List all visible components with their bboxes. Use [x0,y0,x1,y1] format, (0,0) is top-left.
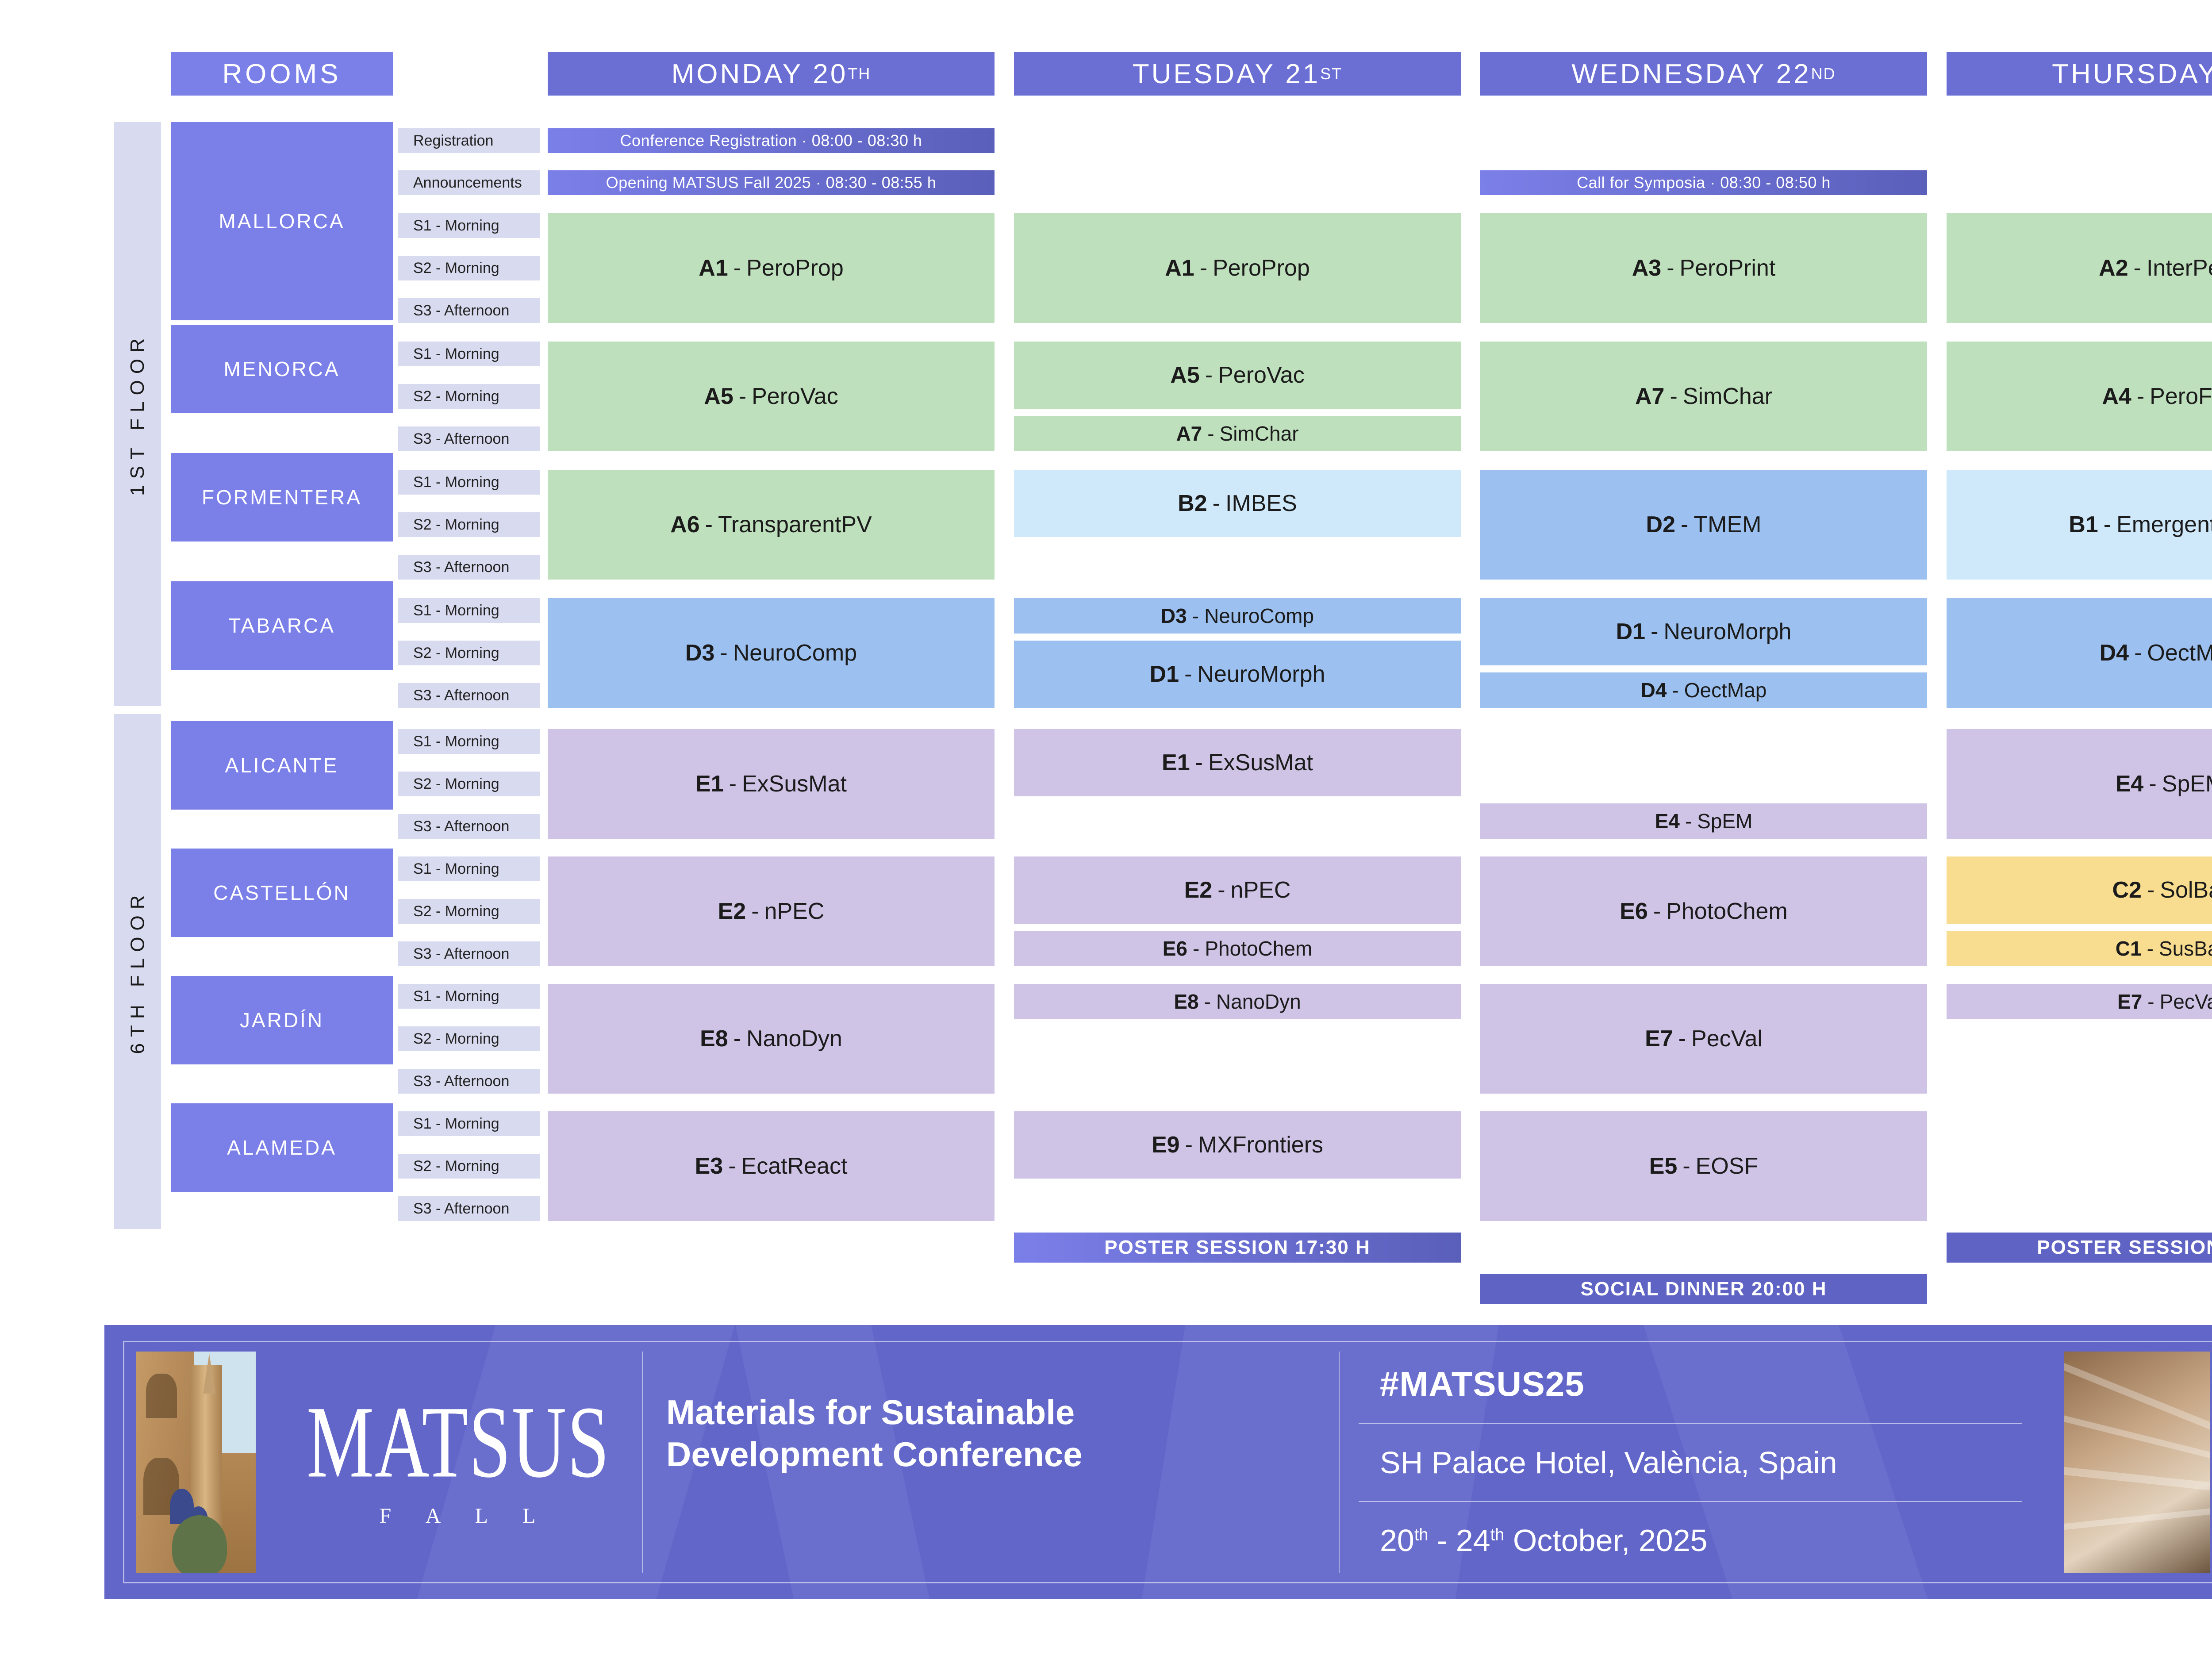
session-code: E6 [1163,937,1187,960]
room-castellon[interactable]: CASTELLÓN [171,849,393,937]
session-name: NeuroMorph [1663,618,1791,645]
session-code: A1 [1165,255,1194,281]
banner-dates-row: 20th - 24th October, 2025 [1359,1501,2022,1579]
session-name: SpEM [1697,809,1752,833]
room-tabarca[interactable]: TABARCA [171,581,393,670]
slot-castellon-s1: S1 - Morning [398,856,540,881]
session-code: E4 [1655,809,1680,833]
session-code: A5 [1170,362,1199,388]
banner-divider-1 [642,1352,643,1573]
floor-label-6th-text: 6TH FLOOR [127,889,149,1054]
banner-info-column: #MATSUS25 SH Palace Hotel, València, Spa… [1359,1345,2022,1579]
slot-alameda-s2: S2 - Morning [398,1154,540,1179]
session-d3-neurocomp-monday[interactable]: D3-NeuroComp [548,598,995,708]
banner-divider-2 [1339,1352,1340,1573]
room-alicante[interactable]: ALICANTE [171,721,393,810]
matsus-fall-label: F A L L [366,1504,551,1528]
matsus-wordmark: MATSUS [307,1390,610,1494]
session-code: D1 [1150,661,1179,687]
slot-jardin-s3: S3 - Afternoon [398,1069,540,1094]
day-header-tuesday-num: 21 [1285,58,1320,90]
session-code: E8 [700,1025,728,1052]
valencia-cathedral-photo [136,1352,256,1573]
day-header-tuesday-label: TUESDAY [1133,58,1275,90]
session-name: EmergentNano [2116,511,2212,538]
session-code: A7 [1635,383,1664,410]
session-name: PeroProp [746,255,844,281]
slot-alicante-s1: S1 - Morning [398,729,540,754]
session-name: NanoDyn [746,1025,842,1052]
session-code: D3 [1161,604,1187,628]
slot-tabarca-s3: S3 - Afternoon [398,683,540,708]
session-e7-pecval-thursday[interactable]: E7-PecVal [1947,984,2212,1019]
session-code: C2 [2112,877,2141,903]
session-name: PeroProp [1213,255,1310,281]
session-d4-oectmap-wednesday[interactable]: D4-OectMap [1480,672,1927,708]
session-d4-oectmap-thursday[interactable]: D4-OectMap [1947,598,2212,708]
session-code: E2 [1184,877,1213,903]
session-a4-perofun-thursday[interactable]: A4-PeroFun [1947,342,2212,451]
banner-date-start-ord: th [1414,1526,1429,1544]
session-e5-eosf-wednesday[interactable]: E5-EOSF [1480,1111,1927,1221]
session-a3-peroprint-wednesday[interactable]: A3-PeroPrint [1480,213,1927,323]
session-c1-susbat-thursday[interactable]: C1-SusBat [1947,931,2212,966]
banner-date-end-ord: th [1490,1526,1505,1544]
session-code: E7 [2117,990,2142,1014]
conference-banner: MATSUS F A L L Materials for Sustainable… [104,1325,2212,1599]
session-e4-spem-wednesday[interactable]: E4-SpEM [1480,803,1927,839]
architecture-photo [2064,1352,2210,1573]
session-a2-interpero-thursday[interactable]: A2-InterPero [1947,213,2212,323]
session-e8-nanodyn-monday[interactable]: E8-NanoDyn [548,984,995,1094]
announcement-wednesday-symposia[interactable]: Call for Symposia · 08:30 - 08:50 h [1480,170,1927,195]
session-code: A5 [704,383,733,410]
slot-alameda-s3: S3 - Afternoon [398,1196,540,1221]
slot-jardin-s2: S2 - Morning [398,1026,540,1051]
session-code: B1 [2069,511,2098,538]
room-menorca[interactable]: MENORCA [171,325,393,413]
day-header-monday: MONDAY 20TH [548,52,995,96]
slot-tabarca-s1: S1 - Morning [398,598,540,623]
session-name: ExSusMat [742,771,847,797]
session-name: PecVal [1691,1025,1763,1052]
session-name: SimChar [1683,383,1772,410]
day-header-tuesday-ord: ST [1320,65,1342,83]
banner-dates: 20th - 24th October, 2025 [1380,1523,1708,1558]
session-name: PhotoChem [1666,898,1788,925]
session-a1-peroprop-tuesday[interactable]: A1-PeroProp [1014,213,1461,323]
day-header-tuesday: TUESDAY 21ST [1014,52,1461,96]
banner-subtitle-line1: Materials for Sustainable [666,1391,1303,1433]
session-e9-mxfrontiers-tuesday[interactable]: E9-MXFrontiers [1014,1111,1461,1179]
banner-subtitle-line2: Development Conference [666,1433,1303,1475]
event-poster-session-thursday[interactable]: POSTER SESSION 17:30 H [1947,1233,2212,1263]
session-name: PeroPrint [1680,255,1776,281]
slot-menorca-s1: S1 - Morning [398,342,540,366]
session-code: C1 [2116,937,2142,960]
day-header-wednesday: WEDNESDAY 22ND [1480,52,1927,96]
session-name: TransparentPV [718,511,872,538]
session-e6-photochem-tuesday[interactable]: E6-PhotoChem [1014,931,1461,966]
day-header-wednesday-num: 22 [1776,58,1811,90]
slot-alameda-s1: S1 - Morning [398,1111,540,1136]
session-name: PhotoChem [1205,937,1312,960]
banner-venue-row: SH Palace Hotel, València, Spain [1359,1423,2022,1501]
session-e2-npec-tuesday[interactable]: E2-nPEC [1014,856,1461,924]
slot-menorca-s2: S2 - Morning [398,384,540,409]
session-code: E2 [718,898,746,925]
rooms-header: ROOMS [171,52,393,96]
banner-hashtag: #MATSUS25 [1380,1364,1585,1404]
session-name: PeroFun [2150,383,2212,410]
session-a1-peroprop-monday[interactable]: A1-PeroProp [548,213,995,323]
session-code: D4 [1641,678,1667,702]
slot-formentera-s1: S1 - Morning [398,470,540,495]
day-header-wednesday-label: WEDNESDAY [1571,58,1766,90]
event-poster-session-tuesday[interactable]: POSTER SESSION 17:30 H [1014,1233,1461,1263]
session-c2-solbat-thursday[interactable]: C2-SolBat [1947,856,2212,924]
day-header-thursday-label: THURSDAY [2052,58,2212,90]
session-code: A2 [2099,255,2128,281]
matsus-logo: MATSUS F A L L [290,1360,626,1568]
banner-date-start: 20 [1380,1523,1414,1558]
session-code: E5 [1649,1153,1678,1179]
slot-mallorca-registration: Registration [398,128,540,153]
slot-tabarca-s2: S2 - Morning [398,641,540,665]
announcement-monday-registration[interactable]: Conference Registration · 08:00 - 08:30 … [548,128,995,153]
day-header-wednesday-ord: ND [1811,65,1836,83]
session-name: EcatReact [741,1153,848,1179]
session-a5-perovac-monday[interactable]: A5-PeroVac [548,342,995,451]
slot-formentera-s3: S3 - Afternoon [398,555,540,580]
session-code: D4 [2100,640,2129,666]
slot-alicante-s2: S2 - Morning [398,772,540,796]
day-header-thursday: THURSDAY 23RD [1947,52,2212,96]
floor-label-1st-text: 1ST FLOOR [127,332,149,496]
session-code: D2 [1646,511,1675,538]
session-code: E9 [1152,1132,1180,1158]
session-code: A3 [1632,255,1661,281]
session-name: NeuroComp [733,640,857,666]
session-code: A7 [1176,422,1202,445]
session-name: SusBat [2159,937,2212,960]
session-name: OectMap [1684,678,1767,702]
banner-date-end: 24 [1456,1523,1490,1558]
event-social-dinner-wednesday[interactable]: SOCIAL DINNER 20:00 H [1480,1274,1927,1304]
slot-castellon-s3: S3 - Afternoon [398,941,540,966]
session-name: OectMap [2147,640,2212,666]
session-name: PeroVac [752,383,838,410]
session-a6-transparentpv-monday[interactable]: A6-TransparentPV [548,470,995,580]
session-d1-neuromorph-tuesday[interactable]: D1-NeuroMorph [1014,641,1461,708]
session-name: SolBat [2160,877,2212,903]
slot-mallorca-s2: S2 - Morning [398,256,540,280]
session-name: NeuroComp [1204,604,1314,628]
session-name: PecVal [2160,990,2212,1014]
session-e1-exsusmat-tuesday[interactable]: E1-ExSusMat [1014,729,1461,796]
session-a7-simchar-wednesday[interactable]: A7-SimChar [1480,342,1927,451]
session-e6-photochem-wednesday[interactable]: E6-PhotoChem [1480,856,1927,966]
session-name: IMBES [1225,490,1297,517]
session-code: E8 [1174,990,1198,1014]
session-name: SpEM [2162,771,2212,797]
session-code: E1 [1162,749,1190,776]
session-code: E7 [1645,1025,1673,1052]
slot-formentera-s2: S2 - Morning [398,512,540,537]
day-header-monday-num: 20 [813,58,848,90]
session-d1-neuromorph-wednesday[interactable]: D1-NeuroMorph [1480,598,1927,665]
session-code: A1 [699,255,728,281]
session-e1-exsusmat-monday[interactable]: E1-ExSusMat [548,729,995,839]
slot-mallorca-s3: S3 - Afternoon [398,298,540,323]
session-name: MXFrontiers [1198,1132,1323,1158]
session-e4-spem-thursday[interactable]: E4-SpEM [1947,729,2212,839]
day-header-monday-ord: TH [848,65,871,83]
room-jardin[interactable]: JARDÍN [171,976,393,1064]
slot-mallorca-announcements: Announcements [398,170,540,195]
session-e8-nanodyn-tuesday[interactable]: E8-NanoDyn [1014,984,1461,1019]
session-name: InterPero [2147,255,2212,281]
session-d2-tmem-wednesday[interactable]: D2-TMEM [1480,470,1927,580]
banner-subtitle: Materials for Sustainable Development Co… [666,1391,1303,1475]
session-code: A6 [670,511,699,538]
session-name: ExSusMat [1208,749,1313,776]
banner-venue: SH Palace Hotel, València, Spain [1380,1445,1837,1480]
session-code: E4 [2116,771,2144,797]
session-name: TMEM [1694,511,1761,538]
slot-mallorca-s1: S1 - Morning [398,213,540,238]
session-name: PeroVac [1218,362,1305,388]
banner-date-rest: October, 2025 [1504,1523,1707,1558]
slot-alicante-s3: S3 - Afternoon [398,814,540,839]
session-name: nPEC [1231,877,1291,903]
session-b2-imbes-tuesday[interactable]: B2-IMBES [1014,470,1461,537]
session-a5-perovac-tuesday[interactable]: A5-PeroVac [1014,342,1461,409]
session-b1-emergentnano-thursday[interactable]: B1-EmergentNano [1947,470,2212,580]
session-a7-simchar-tuesday[interactable]: A7-SimChar [1014,416,1461,451]
slot-jardin-s1: S1 - Morning [398,984,540,1009]
session-name: SimChar [1220,422,1299,445]
session-name: EOSF [1696,1153,1759,1179]
session-d3-neurocomp-tuesday[interactable]: D3-NeuroComp [1014,598,1461,634]
session-name: NanoDyn [1216,990,1301,1014]
session-name: nPEC [764,898,825,925]
room-formentera[interactable]: FORMENTERA [171,453,393,541]
session-code: E1 [695,771,724,797]
room-alameda[interactable]: ALAMEDA [171,1103,393,1192]
session-code: E3 [695,1153,723,1179]
session-code: A4 [2102,383,2131,410]
session-e2-npec-monday[interactable]: E2-nPEC [548,856,995,966]
session-e3-ecatreact-monday[interactable]: E3-EcatReact [548,1111,995,1221]
session-e7-pecval-wednesday[interactable]: E7-PecVal [1480,984,1927,1094]
slot-menorca-s3: S3 - Afternoon [398,426,540,451]
session-code: D1 [1616,618,1645,645]
floor-label-1st: 1ST FLOOR [114,122,161,706]
session-code: E6 [1620,898,1648,925]
room-mallorca[interactable]: MALLORCA [171,122,393,320]
banner-hashtag-row: #MATSUS25 [1359,1345,2022,1423]
announcement-monday-opening[interactable]: Opening MATSUS Fall 2025 · 08:30 - 08:55… [548,170,995,195]
session-code: D3 [685,640,714,666]
schedule-sheet: ROOMS MONDAY 20TH TUESDAY 21ST WEDNESDAY… [0,0,2212,1659]
day-header-monday-label: MONDAY [672,58,803,90]
session-code: B2 [1178,490,1207,517]
session-name: NeuroMorph [1197,661,1325,687]
floor-label-6th: 6TH FLOOR [114,714,161,1229]
slot-castellon-s2: S2 - Morning [398,899,540,924]
